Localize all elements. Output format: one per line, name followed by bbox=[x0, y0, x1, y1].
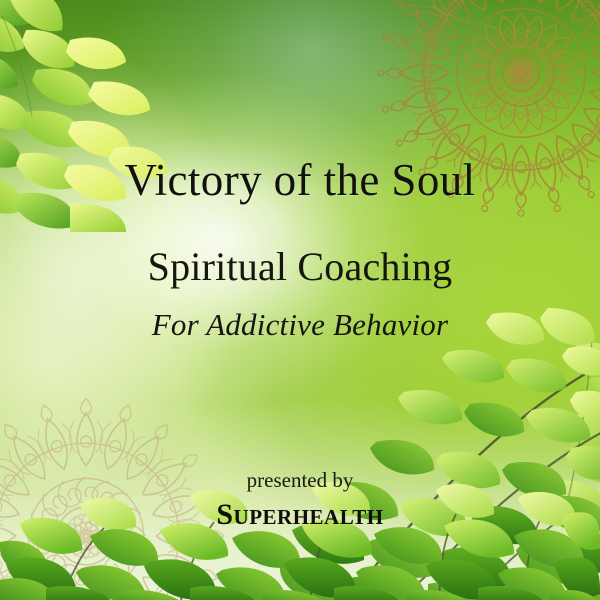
poster-canvas: Victory of the Soul Spiritual Coaching F… bbox=[0, 0, 600, 600]
presenter-block: presented by SuperHealth bbox=[0, 470, 600, 530]
brand-wordmark: SuperHealth bbox=[216, 500, 383, 530]
poster-tagline: For Addictive Behavior bbox=[152, 309, 449, 340]
poster-text-content: Victory of the Soul Spiritual Coaching F… bbox=[0, 0, 600, 600]
page-title: Victory of the Soul bbox=[124, 158, 475, 203]
poster-subtitle: Spiritual Coaching bbox=[148, 247, 453, 287]
presented-by-label: presented by bbox=[247, 470, 354, 491]
